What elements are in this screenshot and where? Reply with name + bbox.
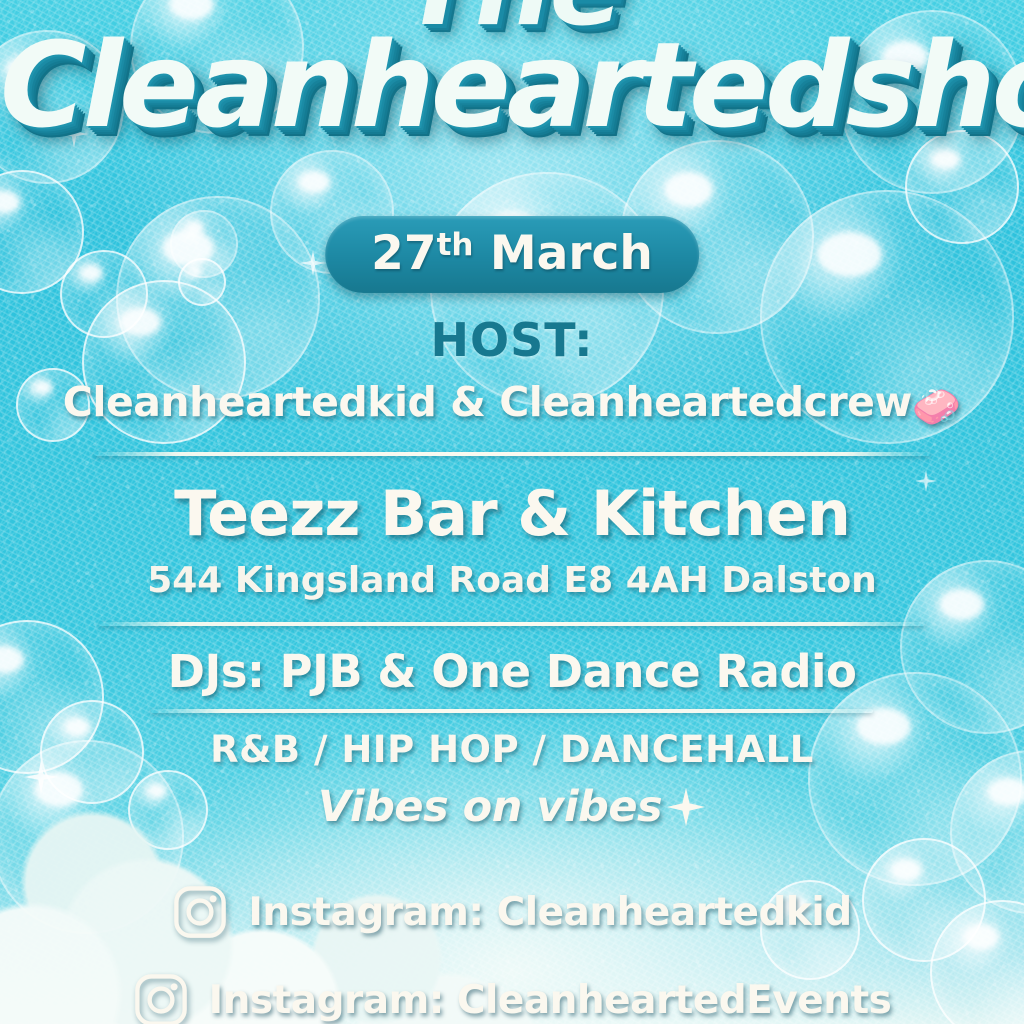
host-label: HOST: [0,313,1024,367]
venue-name: Teezz Bar & Kitchen [0,477,1024,550]
divider-below-djs [151,709,873,713]
poster-content: The Cleanheartedshow 27th March HOST: Cl… [0,0,1024,1024]
vibes-tagline: Vibes on vibes [0,782,1024,838]
date-day: 27 [371,226,436,281]
djs-lineup: DJs: PJB & One Dance Radio [0,645,1024,698]
divider-below-venue [99,622,925,626]
title-line-main: Cleanheartedshow [0,31,1024,140]
social-instagram-events[interactable]: Instagram: CleanheartedEvents [0,972,1024,1024]
sparkle-icon [666,787,706,838]
date-text: 27th March [371,226,653,281]
divider-above-venue [94,452,930,456]
social-instagram-primary[interactable]: Instagram: Cleanheartedkid [0,884,1024,940]
social-handle-text: Instagram: Cleanheartedkid [248,890,851,935]
social-handle-text: Instagram: CleanheartedEvents [209,978,892,1023]
genres-list: R&B / HIP HOP / DANCEHALL [0,728,1024,771]
host-names-text: Cleanheartedkid & Cleanheartedcrew [63,378,912,426]
instagram-icon [133,972,189,1024]
date-badge: 27th March [325,216,699,293]
vibes-text: Vibes on vibes [318,782,662,832]
date-month: March [490,226,653,281]
instagram-icon [172,884,228,940]
venue-address: 544 Kingsland Road E8 4AH Dalston [0,560,1024,601]
poster-title: The Cleanheartedshow [0,0,1024,140]
host-names: Cleanheartedkid & Cleanheartedcrew🧼 [0,378,1024,430]
date-ordinal: th [437,227,474,263]
event-poster: The Cleanheartedshow 27th March HOST: Cl… [0,0,1024,1024]
soap-icon: 🧼 [912,384,961,430]
